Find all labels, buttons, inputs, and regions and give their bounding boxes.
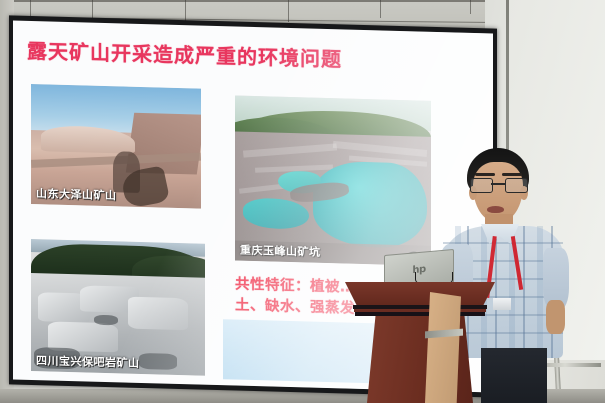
podium-top (345, 282, 495, 306)
slide-photo-chongqing: 重庆玉峰山矿坑 (235, 96, 431, 266)
eyebrow-left (475, 173, 495, 176)
screenshot-stage: 露天矿山开采造成严重的环境问题 山东大泽山矿山 (0, 0, 605, 403)
podium (345, 282, 495, 403)
photo-caption: 山东大泽山矿山 (36, 185, 117, 203)
podium-front-panel (425, 292, 461, 403)
photo-caption: 四川宝兴保吧岩矿山 (36, 352, 140, 371)
slide-title: 露天矿山开采造成严重的环境问题 (27, 35, 342, 73)
slide-photo-sichuan: 四川宝兴保吧岩矿山 (31, 239, 205, 376)
eyebrow-right (502, 173, 522, 176)
mouth (487, 206, 504, 213)
forearm-right (546, 300, 565, 334)
photo-caption: 重庆玉峰山矿坑 (240, 242, 321, 260)
glasses-icon (470, 178, 526, 191)
slide-photo-shandong: 山东大泽山矿山 (31, 84, 201, 209)
badge (493, 298, 511, 310)
